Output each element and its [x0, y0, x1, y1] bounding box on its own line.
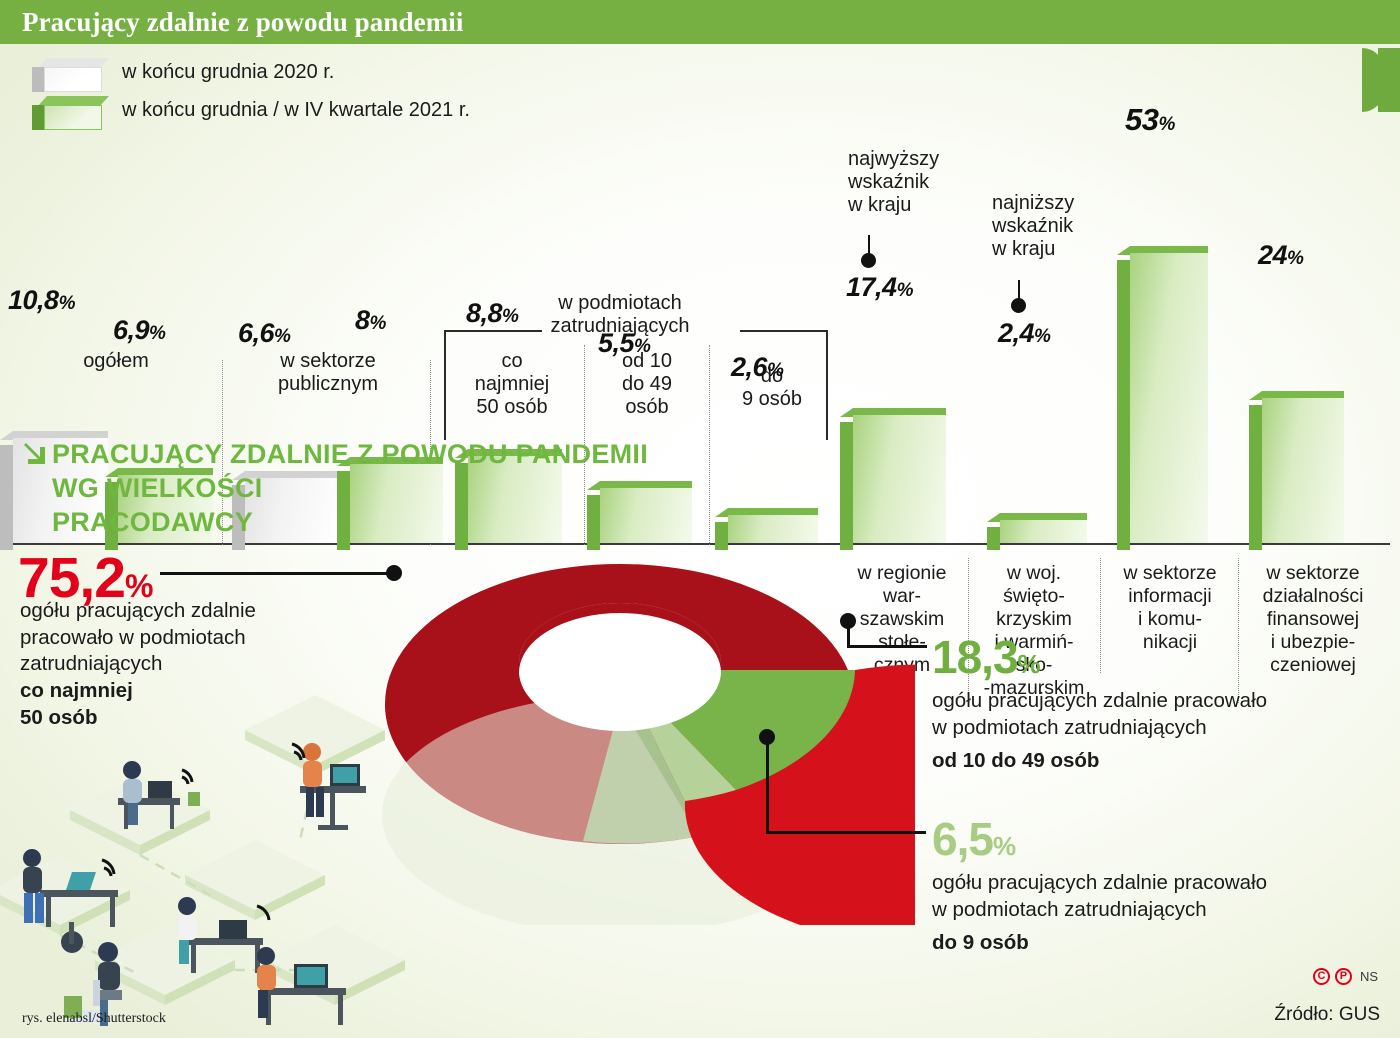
legend-label-2020: w końcu grudnia 2020 r.	[122, 61, 334, 84]
copyright-c-icon: C	[1313, 968, 1330, 985]
source-label: Źródło: GUS	[1274, 1004, 1380, 1026]
legend-swatch-grey-icon	[32, 58, 106, 92]
agency-label: NS	[1360, 969, 1378, 984]
bar-sektor-finansowy	[1262, 398, 1344, 543]
illustration-credit: rys. elenabsl/Shutterstock	[22, 1011, 166, 1027]
callout-lightgreen-dot-icon	[759, 729, 775, 745]
separator-7	[1238, 558, 1239, 703]
bar-value-do-9: 2,6%	[731, 352, 783, 383]
infographic-root: Pracujący zdalnie z powodu pandemii w ko…	[0, 0, 1400, 1038]
group-label-ogolem: ogółem	[16, 350, 216, 373]
bottom-label-sektor-informacji: w sektorze informacji i komu- nikacji	[1104, 562, 1236, 654]
callout-green-leader-h	[847, 645, 927, 648]
bar-value-publiczny-2020: 6,6%	[238, 318, 290, 349]
bar-sektor-informacji	[1130, 253, 1208, 543]
note-lowest: najniższy wskaźnik w kraju	[992, 192, 1132, 262]
bracket-seg-left	[444, 330, 542, 332]
callout-red-bold: co najmniej 50 osób	[20, 678, 350, 731]
title-bar: Pracujący zdalnie z powodu pandemii	[0, 0, 1400, 44]
copyright-p-icon: P	[1335, 968, 1352, 985]
arrow-down-right-icon	[22, 440, 48, 466]
bar-woj-swietokrzyskie	[1000, 520, 1087, 543]
callout-lightgreen-text: ogółu pracujących zdalnie pracowało w po…	[932, 870, 1382, 923]
callout-lightgreen-bold: do 9 osób	[932, 930, 1382, 957]
callout-lightgreen-value: 6,5%	[932, 812, 1015, 866]
note-highest: najwyższy wskaźnik w kraju	[848, 148, 988, 218]
callout-green-dot-icon	[840, 613, 856, 629]
legend-label-2021: w końcu grudnia / w IV kwartale 2021 r.	[122, 99, 470, 122]
page-title: Pracujący zdalnie z powodu pandemii	[22, 7, 464, 38]
note-lowest-dot-icon	[1011, 298, 1026, 313]
bracket-tick-right	[826, 330, 828, 440]
callout-green-bold: od 10 do 49 osób	[932, 748, 1382, 775]
bracket-tick-left	[444, 330, 446, 440]
callout-lightgreen-leader-v	[766, 740, 769, 834]
bar-value-od-10-do-49: 5,5%	[598, 328, 650, 359]
bracket-seg-right	[740, 330, 828, 332]
bottom-label-sektor-finansowy: w sektorze działalności finansowej i ube…	[1242, 562, 1384, 677]
bar-value-publiczny-2021: 8%	[355, 305, 386, 336]
bar-chart: ogółem w sektorze publicznym w podmiotac…	[0, 150, 1400, 400]
corner-tab-decoration	[1378, 48, 1400, 112]
callout-red-dot-icon	[386, 565, 402, 581]
bar-value-woj-swietokrzyskie: 2,4%	[998, 318, 1050, 349]
group-label-sektor-publiczny: w sektorze publicznym	[238, 350, 418, 396]
copyright-marks: C P NS	[1313, 968, 1378, 985]
callout-lightgreen-leader-h	[766, 831, 926, 834]
bar-value-region-warszawski: 17,4%	[846, 272, 913, 303]
bar-value-ogolem-2020: 10,8%	[8, 285, 75, 316]
group-label-od-10-do-49: od 10 do 49 osób	[592, 350, 702, 420]
note-highest-dot-icon	[861, 253, 876, 268]
bar-value-sektor-finansowy: 24%	[1258, 240, 1303, 271]
group-label-co-najmniej-50: co najmniej 50 osób	[450, 350, 574, 420]
legend-swatch-green-icon	[32, 96, 106, 130]
callout-red-leader	[160, 572, 392, 575]
callout-red-text: ogółu pracujących zdalnie pracowało w po…	[20, 598, 350, 678]
callout-green-value: 18,3%	[932, 630, 1040, 684]
bar-value-ogolem-2021: 6,9%	[113, 315, 165, 346]
bar-value-co-najmniej-50: 8,8%	[466, 298, 518, 329]
callout-green-text: ogółu pracujących zdalnie pracowało w po…	[932, 688, 1382, 741]
bar-value-sektor-informacji: 53%	[1125, 102, 1175, 138]
separator-6	[1100, 558, 1101, 673]
